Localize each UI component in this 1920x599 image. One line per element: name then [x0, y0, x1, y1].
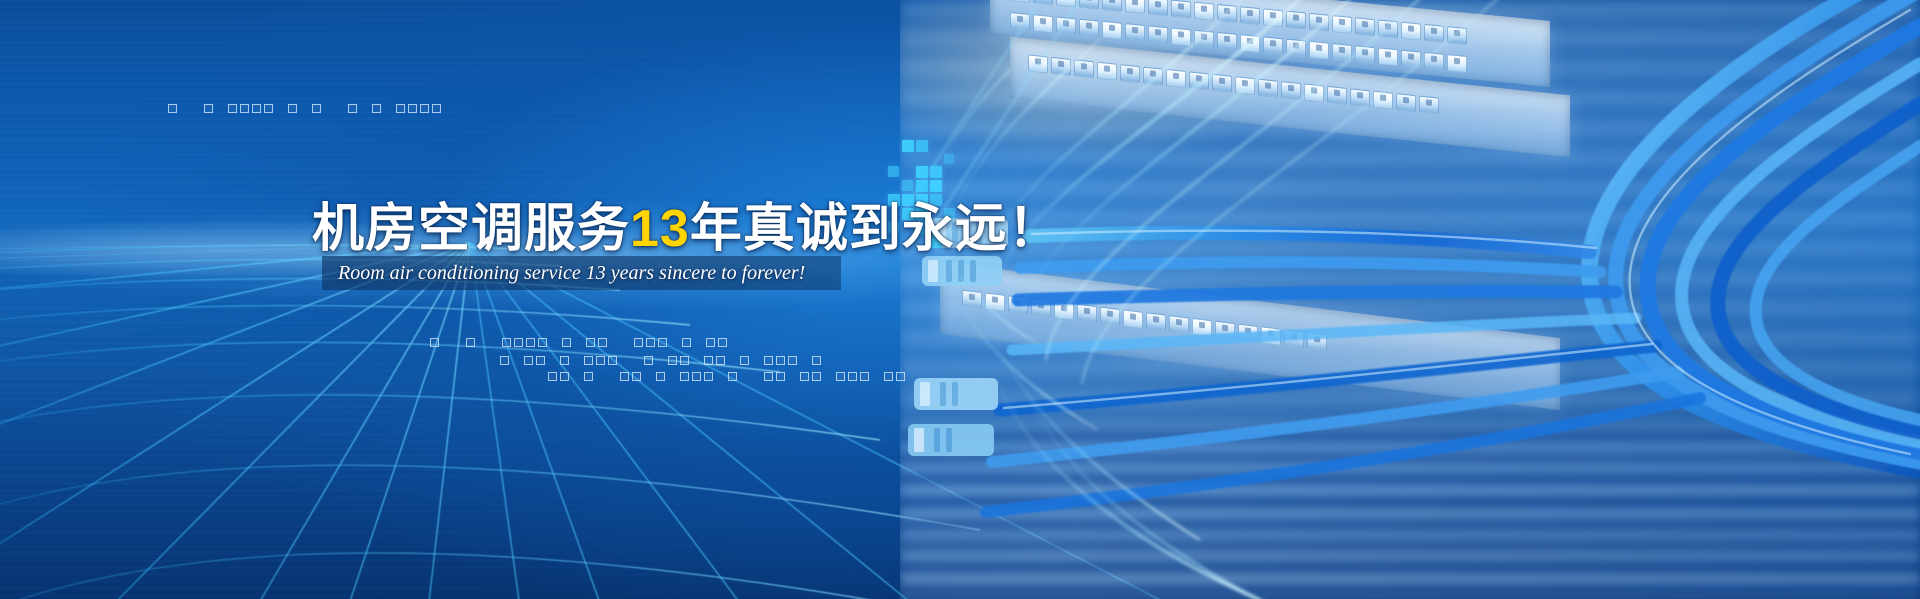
dot-cell [884, 372, 893, 381]
dot-cell [632, 372, 641, 381]
dot-cell [526, 338, 535, 347]
dot-cell [658, 338, 667, 347]
headline-suffix: 年真诚到永远！ [690, 200, 1061, 258]
dot-gap [490, 338, 499, 347]
dot-cell [348, 104, 357, 113]
dot-cell [836, 372, 845, 381]
mosaic-square [930, 166, 942, 178]
dot-gap [656, 356, 665, 365]
dot-cell [502, 338, 511, 347]
dot-cell [644, 356, 653, 365]
mosaic-square [916, 140, 928, 152]
mosaic-square [902, 140, 914, 152]
dot-gap [716, 372, 725, 381]
dot-gap [384, 104, 393, 113]
dot-cell [408, 104, 417, 113]
dot-cell [228, 104, 237, 113]
dot-cell [728, 372, 737, 381]
dot-gap [454, 338, 463, 347]
dot-gap [620, 356, 629, 365]
dot-cell [584, 356, 593, 365]
dot-gap [192, 104, 201, 113]
dot-gap [610, 338, 619, 347]
dot-gap [548, 356, 557, 365]
dot-cell [656, 372, 665, 381]
dot-cell [560, 356, 569, 365]
dot-cell [586, 338, 595, 347]
dot-gap [622, 338, 631, 347]
dot-cell [252, 104, 261, 113]
dot-cell [704, 372, 713, 381]
dot-gap [608, 372, 617, 381]
dot-cell [608, 356, 617, 365]
mosaic-square [916, 180, 928, 192]
dot-cell [680, 372, 689, 381]
dot-gap [324, 104, 333, 113]
dot-cell [848, 372, 857, 381]
dot-row-bottom-2 [500, 356, 824, 365]
dot-cell [704, 356, 713, 365]
dot-gap [550, 338, 559, 347]
dot-gap [216, 104, 225, 113]
mosaic-square [944, 154, 954, 164]
dot-cell [776, 356, 785, 365]
mosaic-square [930, 180, 942, 192]
dot-cell [776, 372, 785, 381]
dot-cell [538, 338, 547, 347]
dot-gap [728, 356, 737, 365]
dot-gap [824, 372, 833, 381]
dot-cell [560, 372, 569, 381]
dot-cell [680, 356, 689, 365]
dot-cell [896, 372, 905, 381]
dot-cell [168, 104, 177, 113]
dot-gap [572, 356, 581, 365]
dot-cell [706, 338, 715, 347]
dot-cell [536, 356, 545, 365]
page-title: 机房空调服务13年真诚到永远！ [312, 203, 1061, 255]
mosaic-square [888, 166, 899, 177]
dot-cell [524, 356, 533, 365]
dot-cell [500, 356, 509, 365]
dot-gap [670, 338, 679, 347]
dot-cell [372, 104, 381, 113]
dot-gap [360, 104, 369, 113]
dot-gap [788, 372, 797, 381]
dot-cell [620, 372, 629, 381]
dot-gap [574, 338, 583, 347]
headline-year-number: 13 [630, 200, 690, 258]
dot-cell [598, 338, 607, 347]
dot-cell [718, 338, 727, 347]
mosaic-square [916, 166, 928, 178]
hero-banner: 机房空调服务13年真诚到永远！ Room air conditioning se… [0, 0, 1920, 599]
dot-cell [692, 372, 701, 381]
dot-gap [668, 372, 677, 381]
dot-gap [752, 356, 761, 365]
dot-cell [288, 104, 297, 113]
dot-cell [634, 338, 643, 347]
subtitle: Room air conditioning service 13 years s… [338, 258, 838, 288]
dot-cell [764, 372, 773, 381]
dot-gap [800, 356, 809, 365]
dot-cell [788, 356, 797, 365]
dot-cell [514, 338, 523, 347]
dot-cell [396, 104, 405, 113]
dot-gap [752, 372, 761, 381]
dot-cell [562, 338, 571, 347]
dot-gap [644, 372, 653, 381]
dot-cell [312, 104, 321, 113]
dot-gap [692, 356, 701, 365]
dot-cell [646, 338, 655, 347]
dot-cell [812, 372, 821, 381]
dot-cell [596, 356, 605, 365]
dot-gap [572, 372, 581, 381]
dot-gap [442, 338, 451, 347]
dot-cell [432, 104, 441, 113]
dot-cell [584, 372, 593, 381]
dot-gap [694, 338, 703, 347]
mosaic-square [902, 180, 913, 191]
dot-row-bottom-1 [430, 338, 730, 347]
dot-row-top [168, 104, 444, 113]
dot-cell [740, 356, 749, 365]
dot-gap [478, 338, 487, 347]
dot-cell [548, 372, 557, 381]
dot-cell [204, 104, 213, 113]
dot-gap [872, 372, 881, 381]
dot-gap [180, 104, 189, 113]
dot-gap [512, 356, 521, 365]
dot-cell [466, 338, 475, 347]
light-swoosh-ribbons [0, 0, 1920, 599]
dot-gap [276, 104, 285, 113]
dot-cell [812, 356, 821, 365]
dot-cell [860, 372, 869, 381]
dot-gap [336, 104, 345, 113]
dot-cell [430, 338, 439, 347]
dot-cell [800, 372, 809, 381]
dot-gap [596, 372, 605, 381]
dot-cell [764, 356, 773, 365]
dot-cell [682, 338, 691, 347]
dot-gap [740, 372, 749, 381]
dot-gap [632, 356, 641, 365]
headline-prefix: 机房空调服务 [312, 200, 630, 258]
dot-row-bottom-3 [548, 372, 908, 381]
dot-cell [240, 104, 249, 113]
dot-cell [668, 356, 677, 365]
dot-cell [420, 104, 429, 113]
dot-cell [264, 104, 273, 113]
dot-gap [300, 104, 309, 113]
dot-cell [716, 356, 725, 365]
